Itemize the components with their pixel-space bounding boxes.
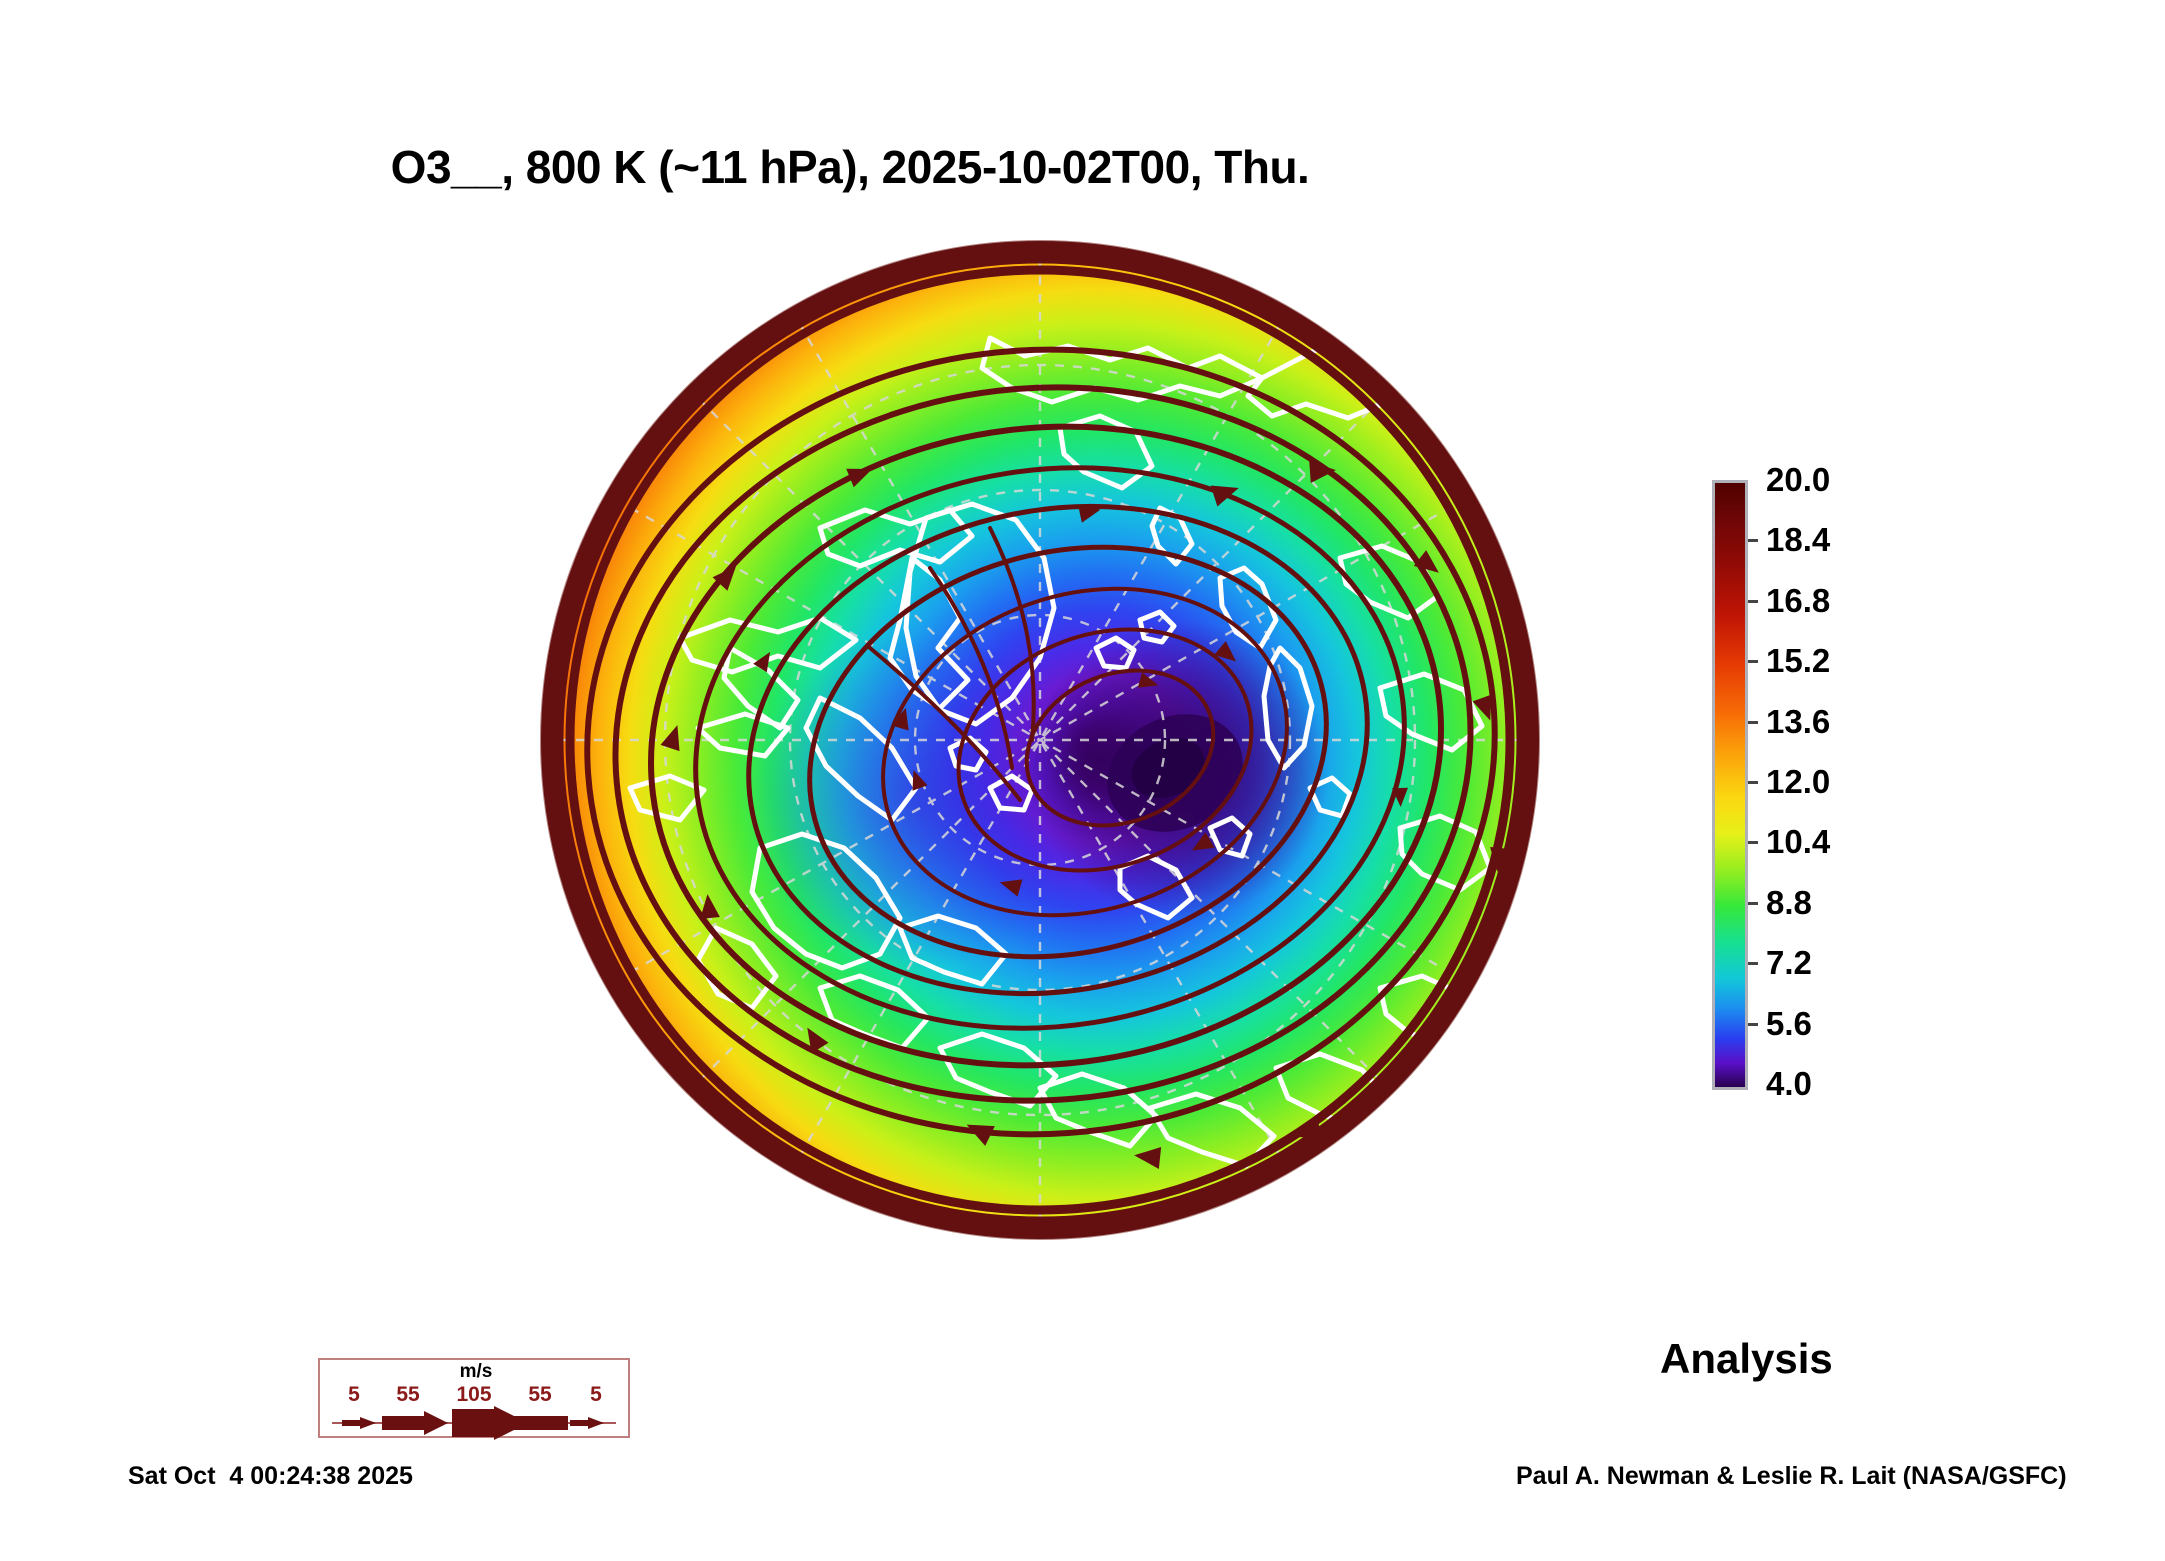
colorbar-label: 8.8 xyxy=(1766,884,1812,922)
colorbar-ticks xyxy=(1748,480,1754,1084)
colorbar xyxy=(1712,480,1748,1090)
colorbar-label: 18.4 xyxy=(1766,521,1830,559)
colorbar-tick xyxy=(1748,902,1758,905)
page-title: O3__, 800 K (~11 hPa), 2025-10-02T00, Th… xyxy=(0,140,1700,194)
wind-speed-value: 5 xyxy=(348,1383,360,1407)
figure-canvas: O3__, 800 K (~11 hPa), 2025-10-02T00, Th… xyxy=(0,0,2165,1561)
colorbar-label: 16.8 xyxy=(1766,582,1830,620)
wind-speed-legend: m/s 555105555 xyxy=(318,1358,630,1438)
colorbar-tick xyxy=(1748,600,1758,603)
polar-map xyxy=(520,228,1560,1268)
colorbar-tick xyxy=(1748,721,1758,724)
colorbar-label: 7.2 xyxy=(1766,944,1812,982)
wind-unit-label: m/s xyxy=(320,1361,632,1383)
colorbar-label: 20.0 xyxy=(1766,461,1830,499)
colorbar-label: 4.0 xyxy=(1766,1065,1812,1103)
wind-speed-value: 5 xyxy=(590,1383,602,1407)
colorbar-tick xyxy=(1748,1023,1758,1026)
wind-speed-value: 55 xyxy=(528,1383,551,1407)
generation-timestamp: Sat Oct 4 00:24:38 2025 xyxy=(128,1462,413,1491)
colorbar-tick xyxy=(1748,539,1758,542)
polar-map-svg xyxy=(520,228,1560,1268)
colorbar-label: 12.0 xyxy=(1766,763,1830,801)
colorbar-label: 13.6 xyxy=(1766,703,1830,741)
colorbar-label: 15.2 xyxy=(1766,642,1830,680)
colorbar-gradient xyxy=(1715,483,1745,1087)
wind-arrow-scale xyxy=(320,1406,628,1440)
colorbar-label: 10.4 xyxy=(1766,823,1830,861)
wind-speed-value: 105 xyxy=(456,1383,491,1407)
wind-speed-value: 55 xyxy=(396,1383,419,1407)
colorbar-tick xyxy=(1748,660,1758,663)
colorbar-tick xyxy=(1748,841,1758,844)
colorbar-label: 5.6 xyxy=(1766,1005,1812,1043)
colorbar-tick xyxy=(1748,962,1758,965)
author-credits: Paul A. Newman & Leslie R. Lait (NASA/GS… xyxy=(1516,1462,2067,1491)
colorbar-tick xyxy=(1748,781,1758,784)
analysis-label: Analysis xyxy=(1660,1335,1833,1383)
colorbar-labels: 20.018.416.815.213.612.010.48.87.25.64.0 xyxy=(1766,480,1906,1084)
